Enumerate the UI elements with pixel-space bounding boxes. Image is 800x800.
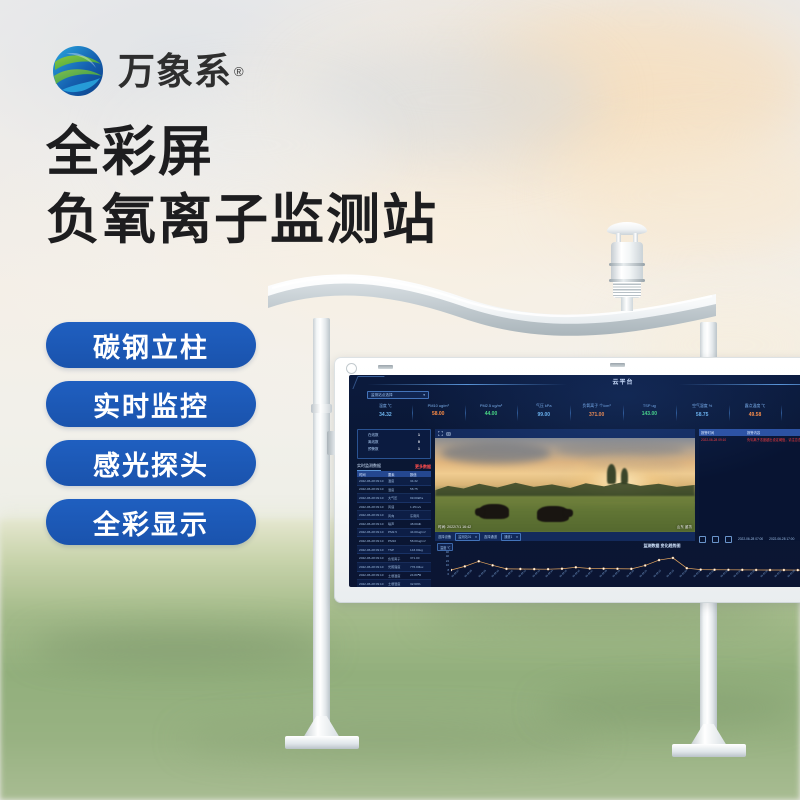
camera-footer-toolbar: 选择设备 监测站01 ▾ 选择通道 通道1 ▾ xyxy=(435,532,695,541)
sensor-cap xyxy=(607,222,647,235)
metric-label: 气压 kPa xyxy=(517,403,570,409)
status-value: 1 xyxy=(418,433,420,438)
table-row[interactable]: 2022-06-28 09:10 噪声 48.00db xyxy=(357,520,431,529)
chart-plot-area: 40 32 24 16 8 0 06-28 0706-28 0806-28 09… xyxy=(435,550,800,585)
y-tick: 16 xyxy=(446,563,449,567)
metric-pm10: PM10 ug/m³ 58.00 xyxy=(412,403,465,427)
status-value: 1 xyxy=(418,447,420,452)
table-row[interactable]: 2022-06-28 09:10 大气压 99.00kPa xyxy=(357,494,431,503)
column-joint xyxy=(311,404,332,413)
column-header-time: 时间 xyxy=(357,472,388,477)
alarm-panel: 报警时间 报警内容 2022-06-28 09:10 负氧离子浓度超出设定阈值，… xyxy=(699,429,800,541)
metric-value: 58.75 xyxy=(676,412,729,418)
channel-select-label: 选择通道 xyxy=(484,534,497,539)
channel-select[interactable]: 通道1 ▾ xyxy=(501,533,521,541)
metric-value: 371.00 xyxy=(570,412,623,418)
table-row[interactable]: 2022-06-28 09:10 湿度 58.75 xyxy=(357,486,431,495)
trend-chart-panel: 温度 ℃ 监测数据 变化趋势图 40 32 24 16 8 0 06-28 07… xyxy=(435,543,800,585)
column-base-plate-right xyxy=(672,744,746,757)
table-row[interactable]: 2022-06-28 09:10 土壤湿度 32.60% xyxy=(357,580,431,587)
camera-icon[interactable] xyxy=(446,431,451,436)
metric-label: PM10 ug/m³ xyxy=(412,403,465,408)
metric-tsp: TSP ug 143.00 xyxy=(623,403,676,427)
end-time-value: 2022-06-28 17:00 xyxy=(769,537,794,541)
y-tick: 24 xyxy=(446,559,449,563)
metric-pm25: PM2.5 ug/m³ 44.00 xyxy=(465,403,518,427)
mount-clip xyxy=(378,365,393,369)
metric-value: 49.58 xyxy=(729,412,782,418)
metric-label: 负氧离子 个/cm³ xyxy=(570,403,623,409)
station-select[interactable]: 监测站点选择 ▾ xyxy=(367,391,429,399)
status-label: 离线数 xyxy=(368,440,379,445)
y-tick: 32 xyxy=(446,554,449,558)
metric-row: 温度 ℃ 34.32 PM10 ug/m³ 58.00 PM2.5 ug/m³ … xyxy=(359,403,800,427)
more-data-link[interactable]: 更多数据 xyxy=(415,464,431,470)
metric-label: TSP ug xyxy=(623,403,676,408)
column-header-param: 要素 xyxy=(388,472,410,477)
table-row[interactable]: 2022-06-28 09:10 负氧离子 371.00 xyxy=(357,554,431,563)
product-poster: 万象系 ® 全彩屏 负氧离子监测站 碳钢立柱 实时监控 感光探头 全彩显示 xyxy=(0,0,800,800)
status-alarm: 预警数 1 xyxy=(362,447,426,452)
full-color-led-display: 云平台 监测站点选择 ▾ 管理员 退出 温度 ℃ 34.32 PM1 xyxy=(334,357,800,603)
list-view-icon[interactable] xyxy=(712,536,719,543)
metric-label: PM2.5 ug/m³ xyxy=(465,403,518,408)
status-value: 0 xyxy=(418,440,420,445)
table-row[interactable]: 2022-06-28 09:10 TSP 143.00ug xyxy=(357,546,431,555)
chart-x-axis: 06-28 0706-28 0806-28 0906-28 1006-28 11… xyxy=(451,576,800,585)
table-row[interactable]: 2022-06-28 09:10 风向 东南风 xyxy=(357,511,431,520)
scene-cattle-head xyxy=(563,509,573,517)
chevron-down-icon: ▾ xyxy=(475,535,477,539)
mount-clip xyxy=(610,363,625,367)
sensor-stem xyxy=(621,297,633,311)
device-select-label: 选择设备 xyxy=(438,534,451,539)
y-tick: 8 xyxy=(447,568,449,572)
data-panel-title: 实时监测数据 xyxy=(357,463,381,471)
device-status-box: 在线数 1 离线数 0 预警数 1 xyxy=(357,429,431,459)
chevron-down-icon: ▾ xyxy=(516,535,518,539)
camera-timestamp: 时间: 2022/7/1 16:42 xyxy=(438,525,471,530)
metric-temperature: 温度 ℃ 34.32 xyxy=(359,403,412,427)
table-row[interactable]: 2022-06-28 09:10 光照强度 776.00lux xyxy=(357,563,431,572)
y-tick: 0 xyxy=(447,572,449,576)
column-header-alarm-content: 报警内容 xyxy=(747,430,800,435)
camera-toolbar xyxy=(435,429,695,438)
metric-label: 温度 ℃ xyxy=(359,403,412,409)
metric-pressure: 气压 kPa 99.00 xyxy=(517,403,570,427)
y-tick: 40 xyxy=(446,550,449,554)
dashboard-title: 云平台 xyxy=(349,377,800,386)
camera-panel: 时间: 2022/7/1 16:42 山东 潍坊 选择设备 监测站01 ▾ 选择… xyxy=(435,429,695,541)
display-side-bracket xyxy=(327,431,335,455)
mount-hook-icon xyxy=(346,363,357,374)
metric-humidity: 空气湿度 % 58.75 xyxy=(676,403,729,427)
dashboard-header: 云平台 xyxy=(349,375,800,391)
metric-value: 48.00 xyxy=(781,412,800,418)
metric-value: 99.00 xyxy=(517,412,570,418)
table-row[interactable]: 2022-06-28 09:10 温度 34.32 xyxy=(357,477,431,486)
metric-noise: 噪声 db 48.00 xyxy=(781,403,800,427)
metric-value: 44.00 xyxy=(465,411,518,417)
camera-watermark: 山东 潍坊 xyxy=(677,525,692,530)
column-base-cone-right xyxy=(690,724,727,746)
start-time-value: 2022-06-28 07:00 xyxy=(738,537,763,541)
alarm-header-row: 报警时间 报警内容 xyxy=(699,429,800,436)
table-row[interactable]: 2022-06-28 09:10 PM2.5 44.00ug/m³ xyxy=(357,529,431,538)
metric-value: 34.32 xyxy=(359,412,412,418)
monitoring-station: 云平台 监测站点选择 ▾ 管理员 退出 温度 ℃ 34.32 PM1 xyxy=(0,0,800,800)
wave-canopy xyxy=(262,272,722,342)
ultrasonic-weather-sensor xyxy=(604,222,650,308)
scene-tree xyxy=(621,468,628,484)
table-header-row: 时间 要素 数值 xyxy=(357,471,431,477)
table-row[interactable]: 2022-06-28 09:10 PM10 58.00ug/m³ xyxy=(357,537,431,546)
status-label: 预警数 xyxy=(368,447,379,452)
chart-y-axis: 40 32 24 16 8 0 xyxy=(435,550,449,576)
dashboard-screen: 云平台 监测站点选择 ▾ 管理员 退出 温度 ℃ 34.32 PM1 xyxy=(349,375,800,587)
scene-cloud xyxy=(441,442,551,464)
carbon-steel-column-left xyxy=(313,318,330,723)
playback-toolbar: 2022-06-28 07:00 2022-06-28 17:00 查询 xyxy=(699,535,800,543)
table-row[interactable]: 2022-06-28 09:10 风速 1.25m/s xyxy=(357,503,431,512)
data-panel-header: 实时监测数据 更多数据 xyxy=(357,463,431,471)
camera-live-view[interactable]: 时间: 2022/7/1 16:42 山东 潍坊 xyxy=(435,438,695,532)
status-online: 在线数 1 xyxy=(362,433,426,438)
station-select-value: 监测站点选择 xyxy=(371,393,393,398)
sensor-upper-body xyxy=(611,242,643,264)
metric-negative-ion: 负氧离子 个/cm³ 371.00 xyxy=(570,403,623,427)
column-header-alarm-time: 报警时间 xyxy=(701,430,747,435)
scene-cattle-head xyxy=(475,508,485,516)
scene-cloud xyxy=(585,456,685,470)
grid-view-icon[interactable] xyxy=(699,536,706,543)
alarm-list[interactable]: 2022-06-28 09:10 负氧离子浓度超出设定阈值，请注意查看 xyxy=(699,436,800,541)
realtime-data-table[interactable]: 时间 要素 数值 2022-06-28 09:10 温度 34.32 2022-… xyxy=(357,471,431,587)
chevron-down-icon: ▾ xyxy=(423,393,425,397)
table-row[interactable]: 2022-06-28 09:10 土壤温度 24.80℃ xyxy=(357,572,431,581)
status-label: 在线数 xyxy=(368,433,379,438)
alarm-row[interactable]: 2022-06-28 09:10 负氧离子浓度超出设定阈值，请注意查看 xyxy=(699,436,800,443)
column-base-plate-left xyxy=(285,736,359,749)
column-header-value: 数值 xyxy=(410,472,431,477)
metric-value: 143.00 xyxy=(623,411,676,417)
column-base-cone-left xyxy=(303,716,340,738)
fullscreen-icon[interactable] xyxy=(438,431,443,436)
metric-label: 露点温度 ℃ xyxy=(729,403,782,409)
chart-title: 监测数据 变化趋势图 xyxy=(435,543,800,549)
radiation-shield xyxy=(613,282,641,298)
metric-value: 58.00 xyxy=(412,411,465,417)
metric-label: 空气湿度 % xyxy=(676,403,729,409)
calendar-icon[interactable] xyxy=(725,536,732,543)
metric-dew-point: 露点温度 ℃ 49.58 xyxy=(729,403,782,427)
metric-label: 噪声 db xyxy=(781,403,800,409)
status-offline: 离线数 0 xyxy=(362,440,426,445)
scene-tree xyxy=(607,464,616,484)
device-select[interactable]: 监测站01 ▾ xyxy=(455,533,480,541)
